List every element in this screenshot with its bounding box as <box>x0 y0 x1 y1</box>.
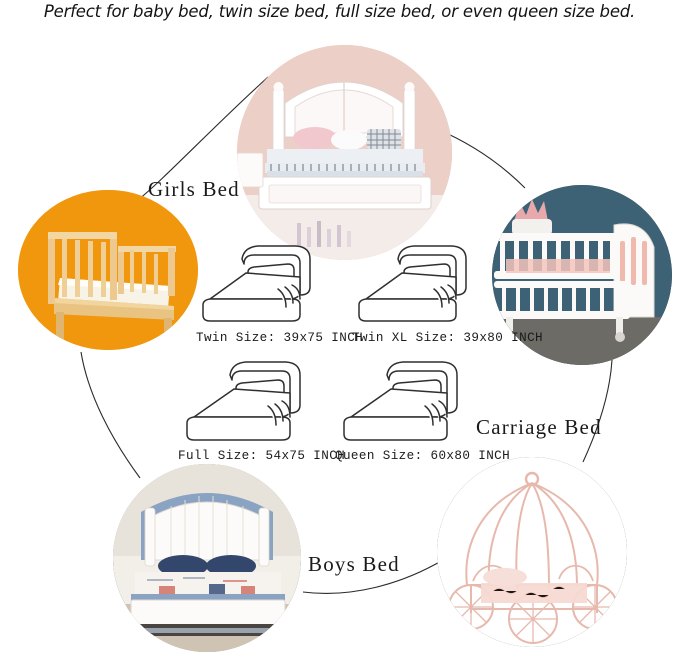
bed-size-label-twin: Twin Size: 39x75 INCH <box>196 331 363 345</box>
bed-size-full: Full Size: 54x75 INCH <box>178 355 345 463</box>
photo-boys-bed <box>113 464 301 652</box>
bed-size-label-queen: Queen Size: 60x80 INCH <box>335 449 510 463</box>
caption-boys-bed: Boys Bed <box>308 552 400 577</box>
connector-boys-toddler <box>81 352 140 478</box>
bed-size-twin-xl: Twin XL Size: 39x80 INCH <box>352 237 543 345</box>
bed-size-label-twin-xl: Twin XL Size: 39x80 INCH <box>352 331 543 345</box>
photo-toddler-bed <box>18 190 198 350</box>
infographic-canvas: Perfect for baby bed, twin size bed, ful… <box>0 0 679 656</box>
bed-size-queen: Queen Size: 60x80 INCH <box>335 355 510 463</box>
photo-carriage-bed <box>437 457 627 647</box>
page-title: Perfect for baby bed, twin size bed, ful… <box>0 2 679 21</box>
connector-crib-carriage <box>583 360 612 462</box>
bed-size-twin: Twin Size: 39x75 INCH <box>196 237 363 345</box>
photo-girls-bed <box>237 45 452 260</box>
caption-girls-bed: Girls Bed <box>148 177 240 202</box>
bed-size-label-full: Full Size: 54x75 INCH <box>178 449 345 463</box>
caption-carriage-bed: Carriage Bed <box>476 415 602 440</box>
